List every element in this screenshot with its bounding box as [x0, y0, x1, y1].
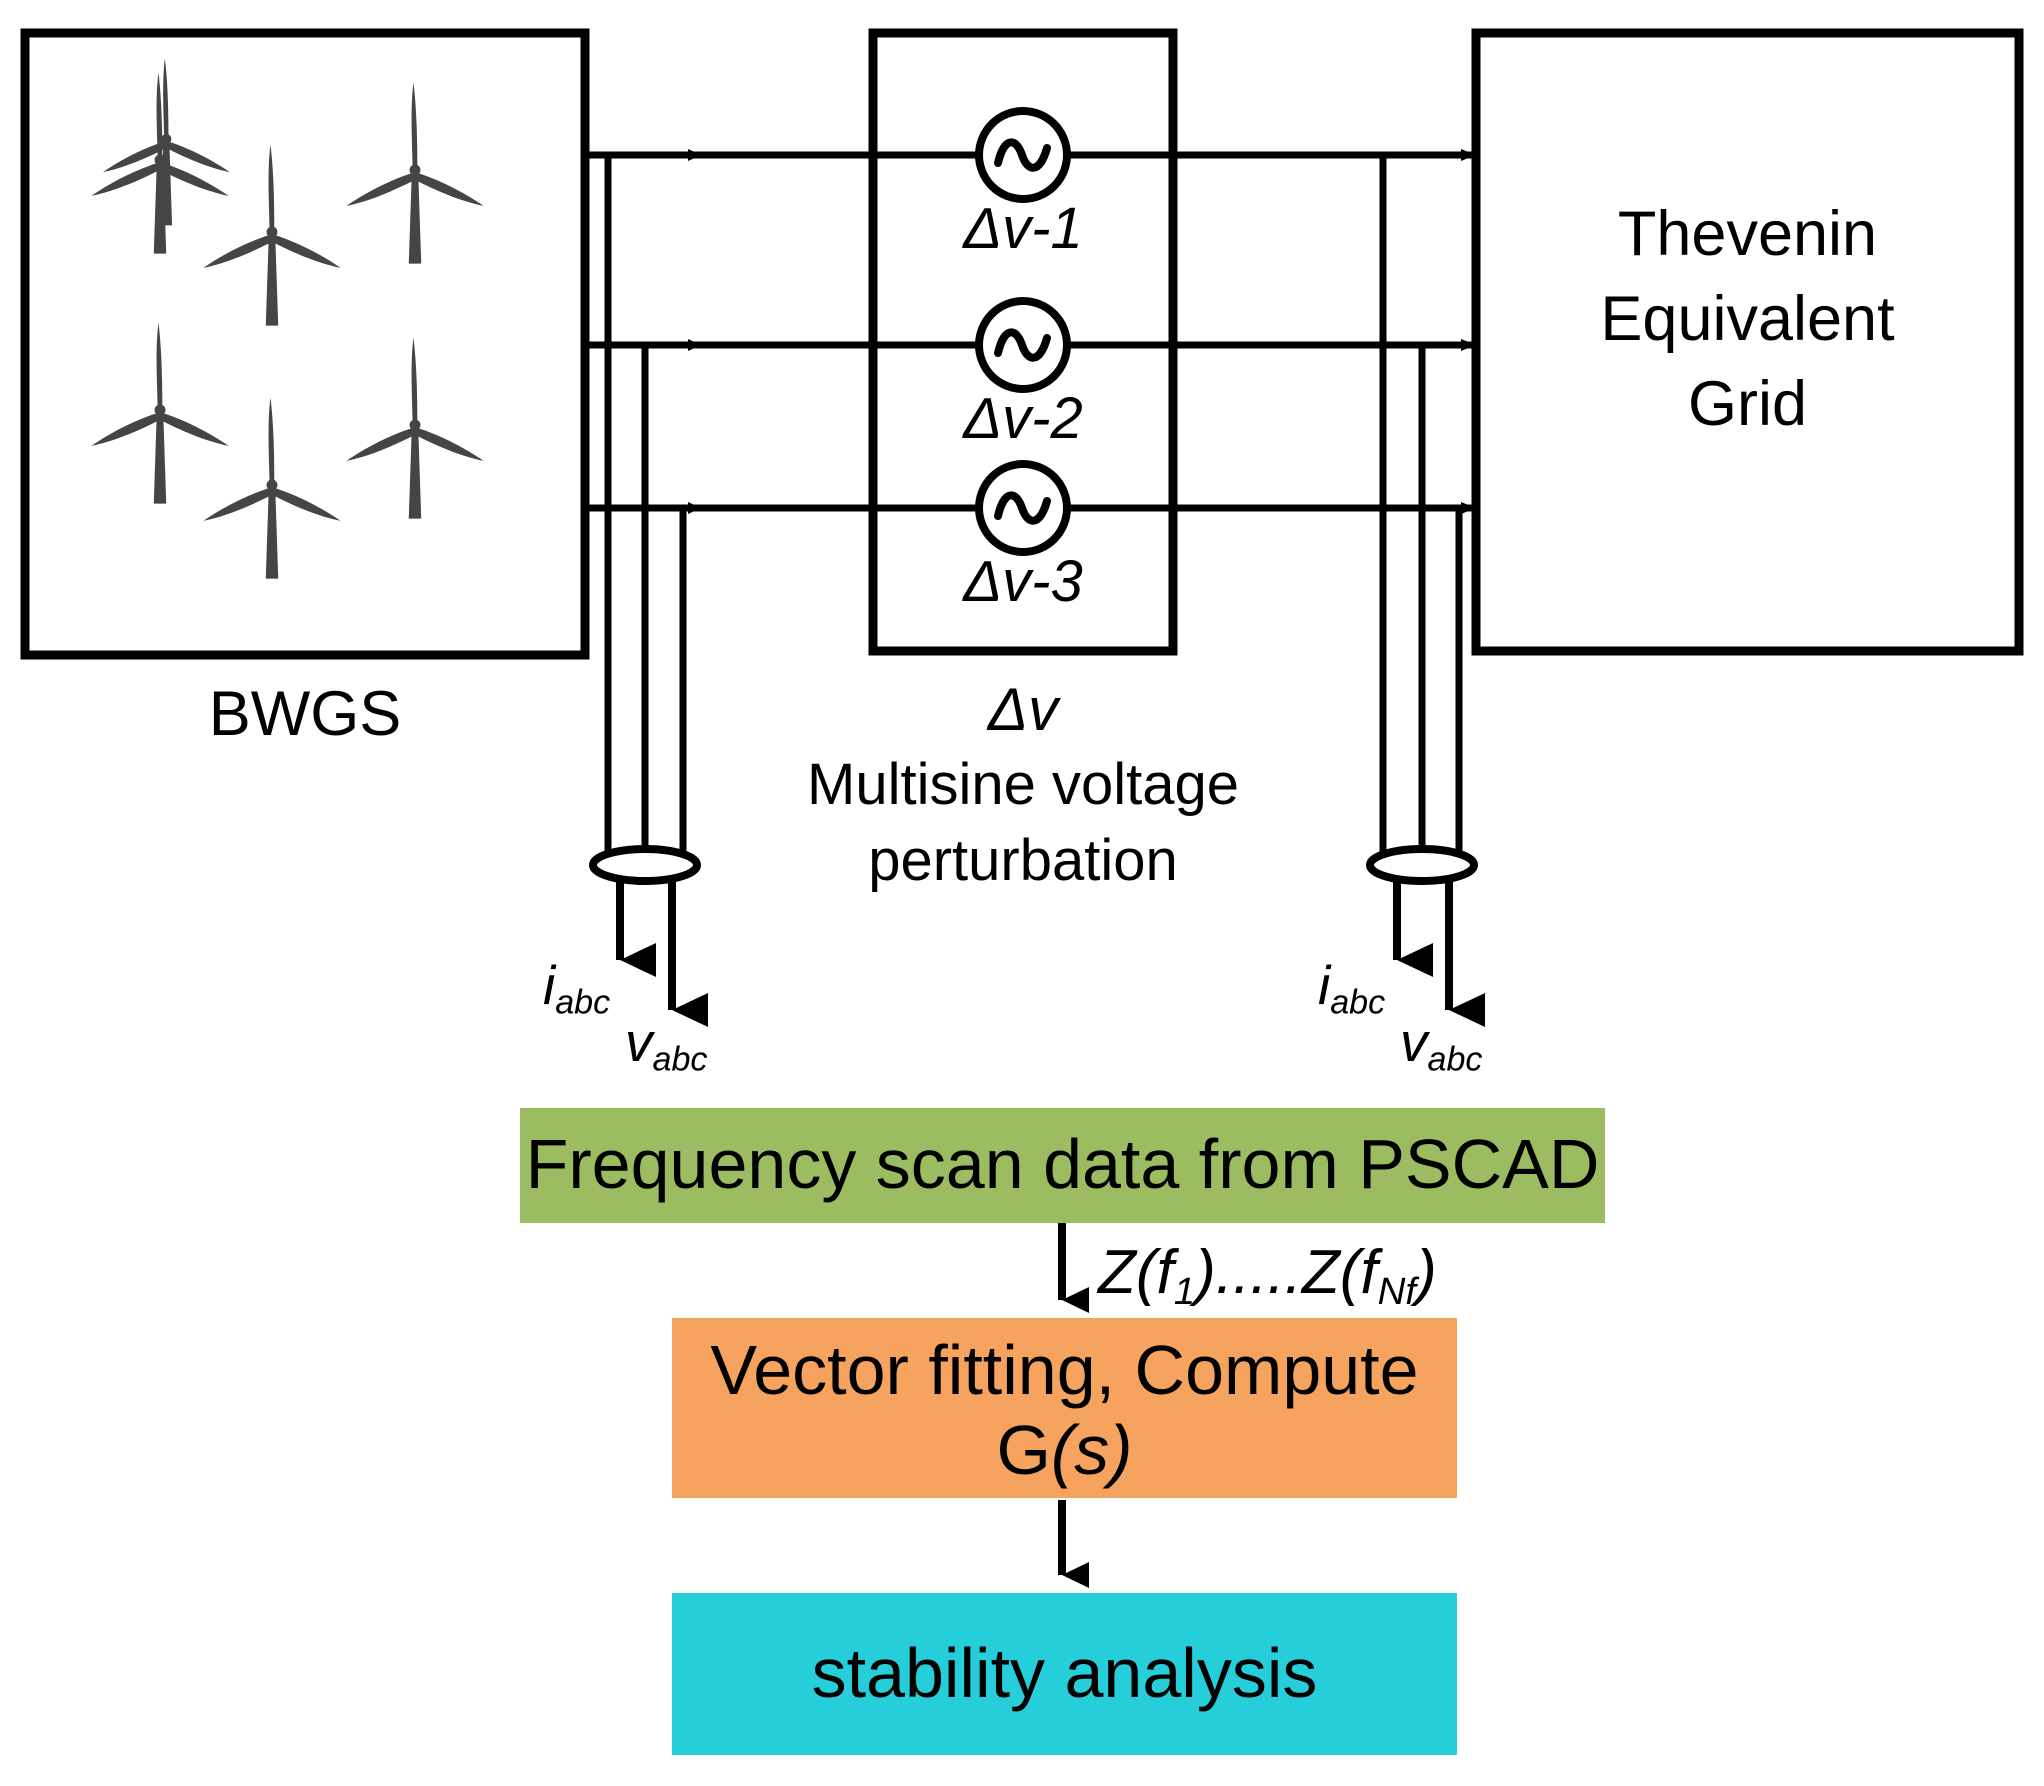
impedance-suffix: ) — [1416, 1238, 1437, 1307]
impedance-sub-first: 1 — [1174, 1270, 1195, 1313]
left-current-subscript: abc — [555, 984, 610, 1022]
impedance-edge-label: Z(f1).....Z(fNf) — [1098, 1240, 1437, 1312]
impedance-mid: ).....Z(f — [1195, 1238, 1378, 1307]
thevenin-grid-label-line1: Thevenin — [1496, 200, 1999, 268]
perturbation-caption-line3: perturbation — [763, 830, 1283, 893]
pscad-box-label: Frequency scan data from PSCAD — [520, 1127, 1605, 1203]
thevenin-grid-label-line2: Equivalent — [1496, 285, 1999, 353]
right-voltage-symbol: v — [1400, 1011, 1428, 1073]
vector-fitting-box-label-line1: Vector fitting, Compute — [672, 1333, 1457, 1409]
ac-source-icon — [979, 111, 1067, 199]
stability-analysis-box-label: stability analysis — [672, 1636, 1457, 1712]
perturbation-caption-delta-v: Δv — [823, 678, 1223, 743]
transfer-function-arg: (s) — [1051, 1411, 1133, 1489]
perturbation-caption-line2: Multisine voltage — [763, 754, 1283, 817]
wind-farm-label: BWGS — [90, 680, 520, 748]
left-current-symbol: i — [543, 954, 555, 1016]
left-voltage-symbol: v — [625, 1011, 653, 1073]
left-flow-arrows — [700, 155, 760, 508]
diagram-canvas: BWGS Δv-1 Δv-2 Δv-3 Δv Multisine voltage… — [0, 0, 2044, 1786]
wind-farm-block — [25, 33, 585, 655]
left-measurement-arrows — [620, 878, 672, 1010]
right-voltage-subscript: abc — [1428, 1041, 1483, 1079]
vector-fitting-box-label-line2: G(s) — [672, 1413, 1457, 1489]
left-voltage-subscript: abc — [653, 1041, 708, 1079]
ac-source-label-1: Δv-1 — [898, 198, 1148, 261]
ac-source-label-3: Δv-3 — [898, 551, 1148, 614]
right-current-symbol: i — [1318, 954, 1330, 1016]
impedance-prefix: Z(f — [1098, 1238, 1174, 1307]
ac-source-icon — [979, 301, 1067, 389]
impedance-sub-last: Nf — [1378, 1270, 1416, 1313]
right-current-transformer-icon — [1370, 849, 1474, 881]
right-current-label: iabc — [1318, 956, 1385, 1021]
transfer-function-g: G — [996, 1411, 1050, 1489]
left-current-label: iabc — [543, 956, 610, 1021]
left-voltage-label: vabc — [625, 1013, 707, 1078]
right-measurement-arrows — [1397, 878, 1449, 1010]
right-current-subscript: abc — [1330, 984, 1385, 1022]
thevenin-grid-label-line3: Grid — [1496, 370, 1999, 438]
ac-source-label-2: Δv-2 — [898, 388, 1148, 451]
right-voltage-label: vabc — [1400, 1013, 1482, 1078]
ac-source-icon — [979, 464, 1067, 552]
right-flow-arrows — [1173, 155, 1476, 508]
left-current-transformer-icon — [593, 849, 697, 881]
